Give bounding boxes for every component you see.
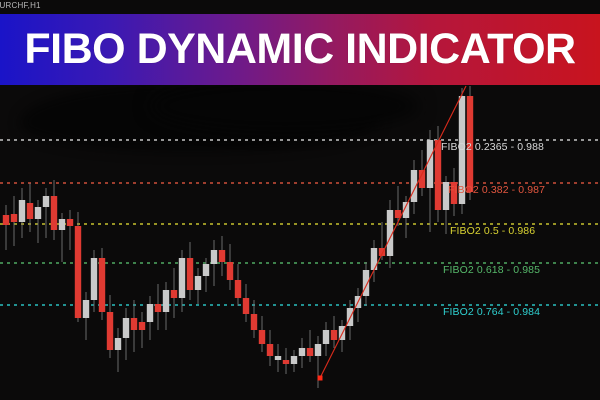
candlestick bbox=[91, 250, 97, 312]
candlestick bbox=[171, 268, 177, 318]
candlestick bbox=[331, 316, 337, 348]
trendline-anchor-handle[interactable] bbox=[318, 376, 323, 381]
candlestick bbox=[27, 183, 33, 232]
candlestick bbox=[67, 210, 73, 250]
candlestick bbox=[299, 338, 305, 368]
candlestick bbox=[363, 262, 369, 306]
fib-level-label-2: FIBO2 0.5 - 0.986 bbox=[450, 225, 535, 237]
candlestick bbox=[283, 348, 289, 374]
candlestick bbox=[251, 300, 257, 338]
trendline[interactable] bbox=[320, 86, 466, 378]
candlestick bbox=[83, 292, 89, 340]
candlestick bbox=[411, 160, 417, 214]
candlestick bbox=[347, 300, 353, 340]
page-title: FIBO DYNAMIC INDICATOR bbox=[24, 28, 575, 71]
candlestick bbox=[307, 330, 313, 362]
candlestick bbox=[11, 196, 17, 246]
candlestick bbox=[227, 244, 233, 290]
candlestick bbox=[35, 200, 41, 243]
candlestick bbox=[427, 130, 433, 232]
fib-level-label-1: FIBO2 0.382 - 0.987 bbox=[448, 184, 545, 196]
candlestick bbox=[323, 322, 329, 356]
candlestick bbox=[99, 248, 105, 320]
candlestick bbox=[139, 312, 145, 348]
candlestick bbox=[339, 320, 345, 352]
candlestick bbox=[155, 284, 161, 330]
candlestick bbox=[235, 264, 241, 306]
candlestick bbox=[355, 288, 361, 322]
candlestick bbox=[259, 316, 265, 352]
candlestick bbox=[123, 308, 129, 360]
candlestick bbox=[75, 212, 81, 322]
candlestick bbox=[267, 330, 273, 366]
candlestick bbox=[3, 205, 9, 250]
candlestick bbox=[219, 236, 225, 276]
candlestick bbox=[187, 242, 193, 300]
candlestick bbox=[19, 188, 25, 238]
candlestick bbox=[147, 296, 153, 340]
candlestick bbox=[243, 284, 249, 322]
candlestick bbox=[211, 240, 217, 286]
candlestick bbox=[275, 344, 281, 372]
candlestick bbox=[59, 213, 65, 262]
candlestick bbox=[395, 186, 401, 226]
candlestick bbox=[179, 250, 185, 312]
fib-level-label-0: FIBO2 0.2365 - 0.988 bbox=[441, 141, 544, 153]
fib-level-label-4: FIBO2 0.764 - 0.984 bbox=[443, 306, 540, 318]
title-banner: FIBO DYNAMIC INDICATOR bbox=[0, 14, 600, 85]
chart-window: EURCHF,H1 FIBO DYNAMIC INDICATOR FIBO2 0… bbox=[0, 0, 600, 400]
candlestick bbox=[115, 328, 121, 372]
fib-level-label-3: FIBO2 0.618 - 0.985 bbox=[443, 264, 540, 276]
candlestick bbox=[51, 180, 57, 240]
candlestick bbox=[163, 282, 169, 330]
symbol-label: EURCHF,H1 bbox=[0, 1, 41, 10]
candlestick bbox=[131, 300, 137, 352]
candlestick bbox=[291, 350, 297, 372]
candlestick bbox=[195, 268, 201, 304]
candlestick bbox=[43, 188, 49, 238]
